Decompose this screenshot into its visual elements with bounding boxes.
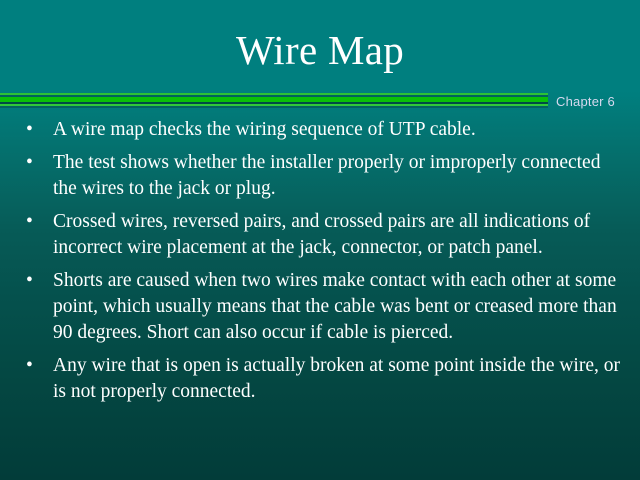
presentation-slide: Wire Map Chapter 6 • A wire map checks t… [0, 0, 640, 480]
list-item: • The test shows whether the installer p… [16, 150, 624, 202]
list-item: • Crossed wires, reversed pairs, and cro… [16, 209, 624, 261]
list-item: • Any wire that is open is actually brok… [16, 353, 624, 405]
bullet-dot-icon: • [26, 117, 40, 143]
list-item: • Shorts are caused when two wires make … [16, 268, 624, 346]
divider-bar [0, 93, 548, 108]
bullet-dot-icon: • [26, 268, 40, 294]
list-item-text: The test shows whether the installer pro… [53, 150, 624, 202]
bullet-dot-icon: • [26, 209, 40, 235]
bullet-dot-icon: • [26, 353, 40, 379]
chapter-label: Chapter 6 [556, 94, 615, 109]
divider-band-gap-lower [0, 106, 548, 108]
title-area: Wire Map [0, 28, 640, 73]
page-title: Wire Map [0, 28, 640, 73]
list-item-text: A wire map checks the wiring sequence of… [53, 117, 624, 143]
list-item-text: Crossed wires, reversed pairs, and cross… [53, 209, 624, 261]
list-item: • A wire map checks the wiring sequence … [16, 117, 624, 143]
list-item-text: Any wire that is open is actually broken… [53, 353, 624, 405]
bullet-dot-icon: • [26, 150, 40, 176]
bullet-list: • A wire map checks the wiring sequence … [16, 117, 624, 405]
list-item-text: Shorts are caused when two wires make co… [53, 268, 624, 346]
divider-area [0, 93, 640, 113]
